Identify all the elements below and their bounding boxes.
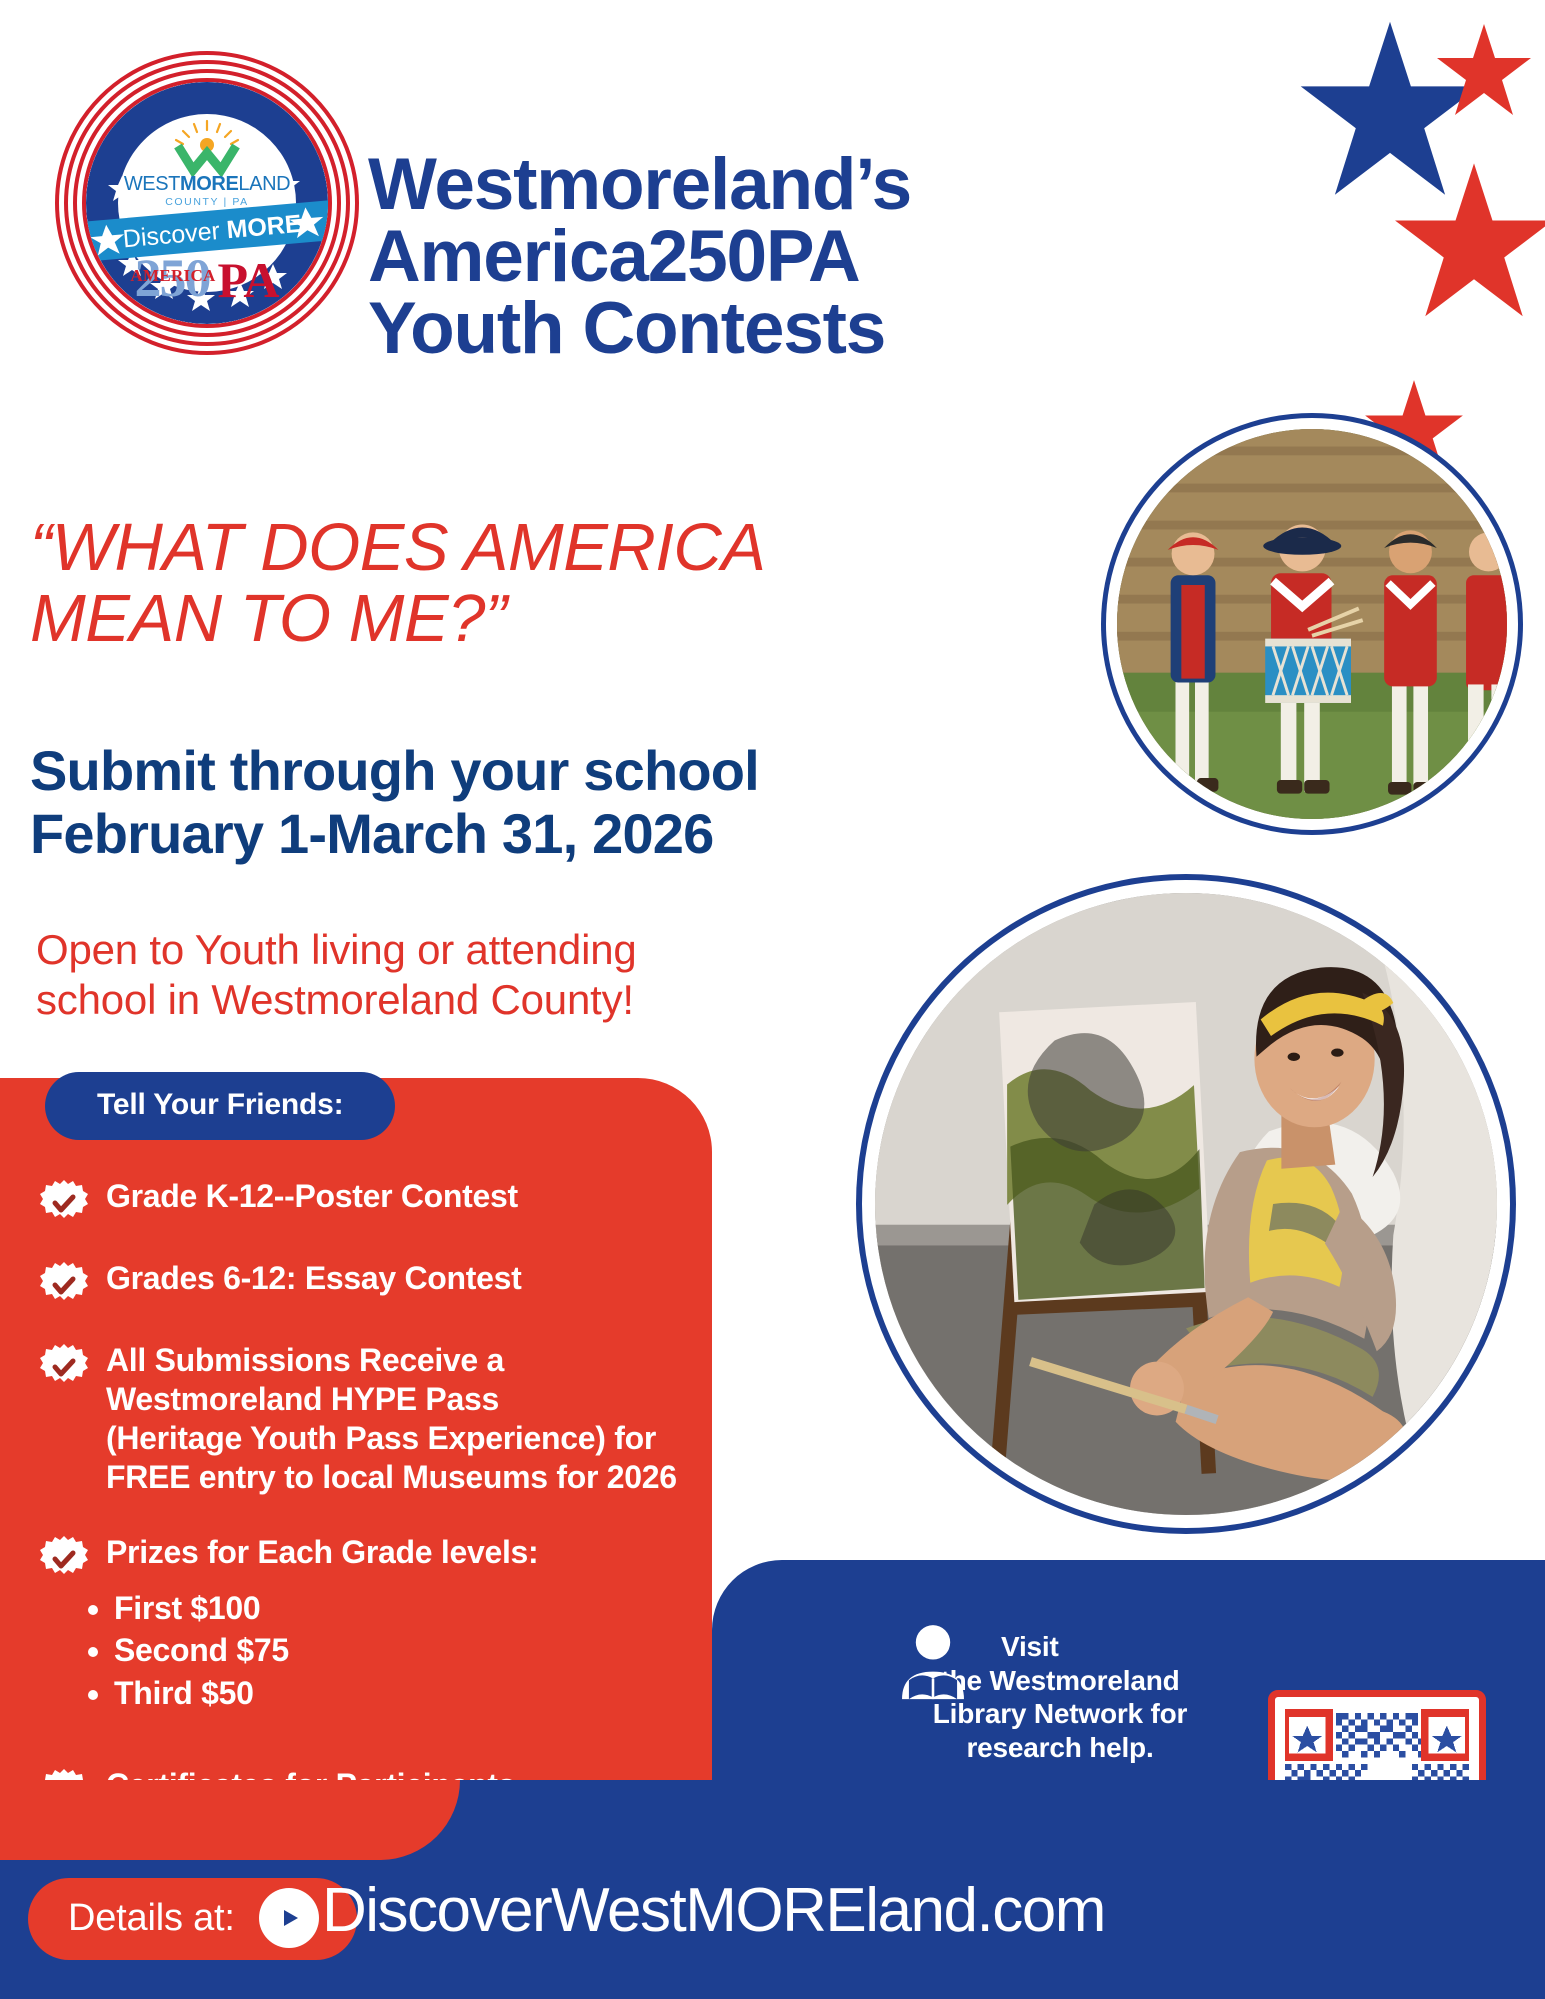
svg-text:PA: PA <box>218 252 280 308</box>
quote-line-1: “WHAT DOES AMERICA <box>30 512 910 583</box>
list-item-text: Prizes for Each Grade levels: <box>106 1531 538 1572</box>
details-at-pill[interactable]: Details at: <box>28 1878 357 1960</box>
list-item-line: FREE entry to local Museums for 2026 <box>106 1458 677 1497</box>
list-item-text: All Submissions Receive a Westmoreland H… <box>106 1339 677 1497</box>
eligibility-note: Open to Youth living or attending school… <box>36 925 756 1024</box>
list-item-line: Grades 6-12: Essay Contest <box>106 1259 522 1298</box>
star-red-large <box>1390 160 1545 328</box>
list-item-line: Grade K-12--Poster Contest <box>106 1177 518 1216</box>
submission-window: Submit through your school February 1-Ma… <box>30 740 930 865</box>
list-item-line: All Submissions Receive a <box>106 1341 677 1380</box>
list-item-line: (Heritage Youth Pass Experience) for <box>106 1419 677 1458</box>
check-seal-icon <box>40 1535 88 1583</box>
footer-notch <box>0 1780 460 1860</box>
library-line-4: research help. <box>905 1731 1215 1765</box>
prize-item: Second $75 <box>114 1629 700 1671</box>
check-seal-icon <box>40 1261 88 1309</box>
svg-text:AMERICA: AMERICA <box>130 266 216 285</box>
contest-theme-quote: “WHAT DOES AMERICA MEAN TO ME?” <box>30 512 910 654</box>
details-label: Details at: <box>68 1897 235 1940</box>
submit-line-1: Submit through your school <box>30 740 930 803</box>
eligibility-line-2: school in Westmoreland County! <box>36 975 756 1025</box>
play-triangle-icon[interactable] <box>259 1888 319 1948</box>
list-item: Grades 6-12: Essay Contest <box>40 1257 700 1309</box>
contest-checklist: Grade K-12--Poster Contest Grades 6-12: … <box>40 1175 700 1838</box>
prize-item: First $100 <box>114 1587 700 1629</box>
title-line-1: Westmoreland’s <box>368 149 1028 221</box>
prize-item: Third $50 <box>114 1672 700 1714</box>
list-item-text: Grade K-12--Poster Contest <box>106 1175 518 1216</box>
list-item-line: Prizes for Each Grade levels: <box>106 1533 538 1572</box>
title-line-3: Youth Contests <box>368 293 1028 365</box>
photo-painter-art <box>875 893 1497 1515</box>
star-red-small <box>1434 22 1534 122</box>
prize-sublist: First $100 Second $75 Third $50 <box>40 1587 700 1714</box>
photo-reenactors-art <box>1117 429 1507 819</box>
page-title: Westmoreland’s America250PA Youth Contes… <box>368 149 1028 366</box>
eligibility-line-1: Open to Youth living or attending <box>36 925 756 975</box>
poster-canvas: WESTMORELAND COUNTY | PA Discover MORE 2… <box>0 0 1545 1999</box>
list-item: Prizes for Each Grade levels: <box>40 1531 700 1583</box>
quote-line-2: MEAN TO ME?” <box>30 583 910 654</box>
library-research-note: Visit the Westmoreland Library Network f… <box>905 1630 1215 1764</box>
westmoreland-america250pa-logo: WESTMORELAND COUNTY | PA Discover MORE 2… <box>52 48 362 358</box>
list-item: All Submissions Receive a Westmoreland H… <box>40 1339 700 1497</box>
svg-text:COUNTY | PA: COUNTY | PA <box>165 196 249 208</box>
check-seal-icon <box>40 1343 88 1391</box>
photo-fife-and-drum-reenactors <box>1106 418 1518 830</box>
person-reading-book-icon <box>890 1620 976 1706</box>
list-item-line: Westmoreland HYPE Pass <box>106 1380 677 1419</box>
list-item-text: Grades 6-12: Essay Contest <box>106 1257 522 1298</box>
list-item: Grade K-12--Poster Contest <box>40 1175 700 1227</box>
photo-student-painting <box>862 880 1510 1528</box>
submit-line-2: February 1-March 31, 2026 <box>30 803 930 866</box>
title-line-2: America250PA <box>368 221 1028 293</box>
svg-text:WESTMORELAND: WESTMORELAND <box>124 173 290 195</box>
website-url[interactable]: DiscoverWestMOREland.com <box>322 1875 1105 1946</box>
tell-your-friends-pill: Tell Your Friends: <box>45 1072 395 1140</box>
check-seal-icon <box>40 1179 88 1227</box>
